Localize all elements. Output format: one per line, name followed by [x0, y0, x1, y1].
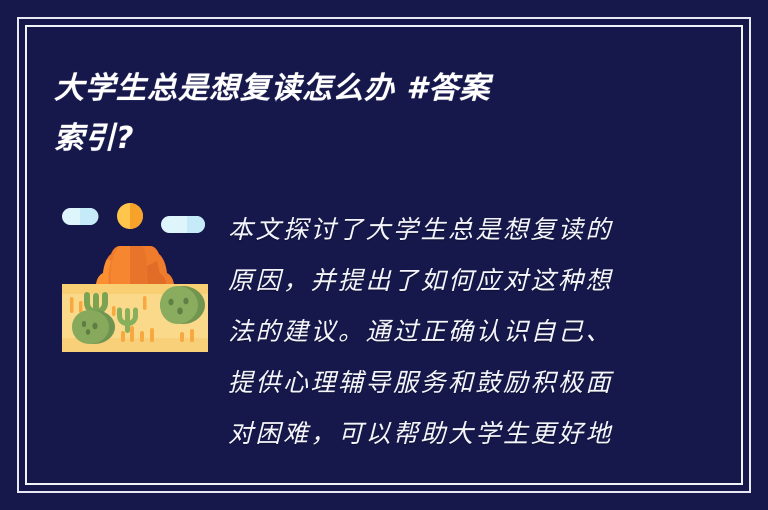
summary-line: 本文探讨了大学生总是想复读的	[228, 204, 658, 255]
bush-left-icon	[72, 310, 115, 344]
sun-icon	[117, 203, 143, 229]
page-title: 大学生总是想复读怎么办 #答案 索引?	[54, 64, 664, 164]
title-line-1: 大学生总是想复读怎么办 #答案	[54, 64, 664, 114]
title-line-2: 索引?	[54, 114, 664, 164]
article-summary: 本文探讨了大学生总是想复读的 原因，并提出了如何应对这种想 法的建议。通过正确认…	[228, 204, 658, 459]
summary-line: 法的建议。通过正确认识自己、	[228, 306, 658, 357]
cloud-right-icon	[161, 216, 205, 233]
article-cover-card: 大学生总是想复读怎么办 #答案 索引?	[0, 0, 768, 510]
summary-line: 对困难，可以帮助大学生更好地	[228, 408, 658, 459]
cloud-left-icon	[62, 208, 98, 225]
mesa-rock	[96, 246, 174, 286]
bush-right-icon	[160, 286, 205, 324]
summary-line: 原因，并提出了如何应对这种想	[228, 255, 658, 306]
desert-mesa-illustration	[56, 198, 214, 358]
summary-line: 提供心理辅导服务和鼓励积极面	[228, 357, 658, 408]
